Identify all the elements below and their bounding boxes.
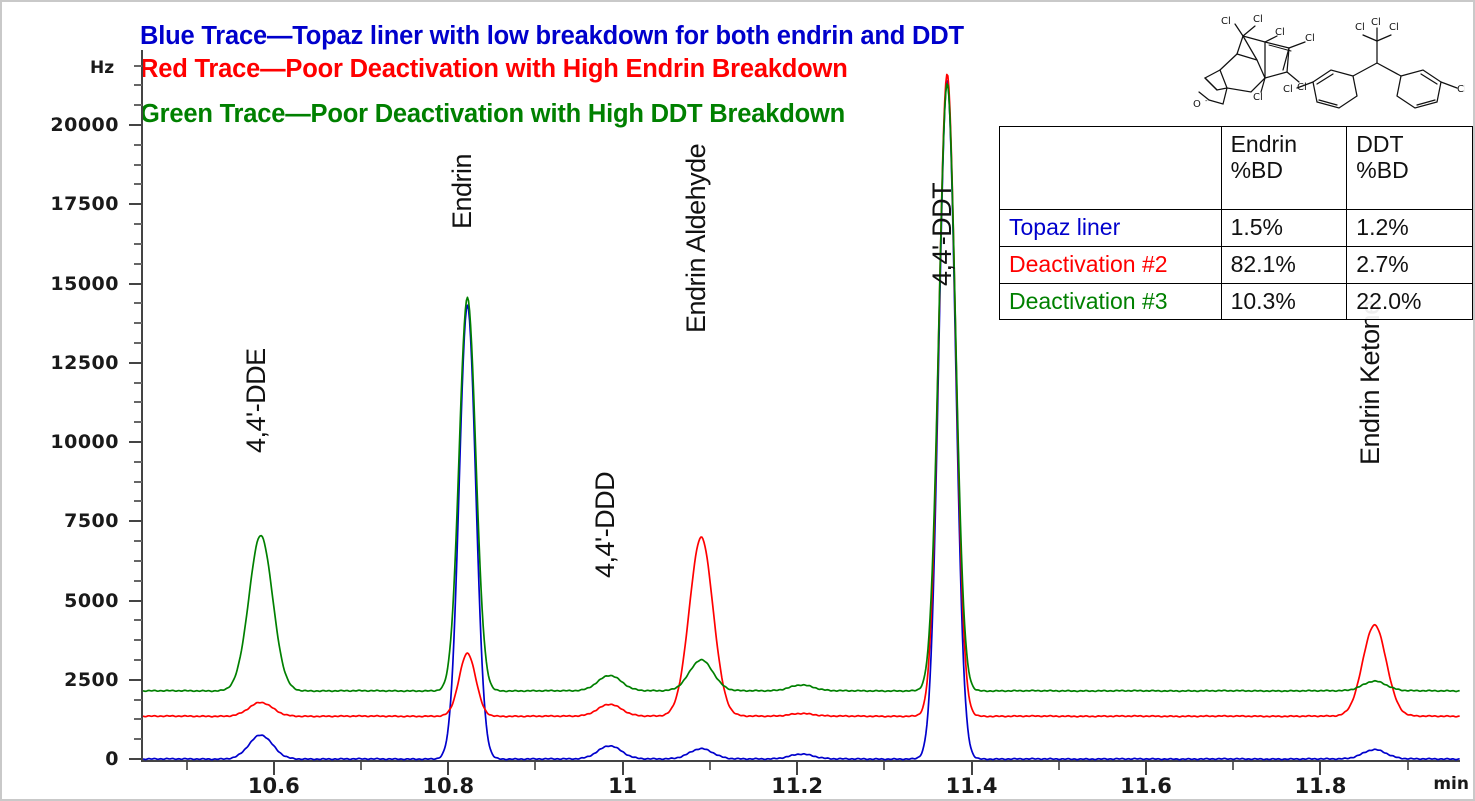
breakdown-results-table: Endrin%BDDDT%BDTopaz liner1.5%1.2%Deacti… bbox=[999, 126, 1473, 320]
svg-text:Cl: Cl bbox=[1371, 17, 1381, 28]
svg-text:Cl: Cl bbox=[1253, 92, 1263, 103]
table-cell-endrin-bd: 82.1% bbox=[1221, 246, 1347, 283]
svg-text:Cl: Cl bbox=[1355, 22, 1365, 33]
table-cell-ddt-bd: 1.2% bbox=[1347, 210, 1473, 247]
table-cell-endrin-bd: 1.5% bbox=[1221, 210, 1347, 247]
table-cell-ddt-bd: 2.7% bbox=[1347, 246, 1473, 283]
peak-label: 4,4'-DDD bbox=[590, 472, 621, 578]
table-corner-cell bbox=[1000, 127, 1222, 210]
svg-text:Cl: Cl bbox=[1253, 14, 1263, 25]
peak-label: 4,4'-DDE bbox=[241, 348, 272, 453]
table-header-endrin: Endrin%BD bbox=[1221, 127, 1347, 210]
peak-label: Endrin bbox=[447, 154, 478, 229]
peak-label: Endrin Ketone bbox=[1355, 300, 1386, 465]
chemical-structures: ClCl ClCl ClCl O- ClClCl ClCl bbox=[1165, 8, 1465, 126]
table-header-row: Endrin%BDDDT%BD bbox=[1000, 127, 1473, 210]
svg-text:Cl: Cl bbox=[1305, 33, 1315, 44]
table-cell-ddt-bd: 22.0% bbox=[1347, 283, 1473, 320]
peak-label: Endrin Aldehyde bbox=[681, 144, 712, 333]
table-cell-liner-name: Topaz liner bbox=[1000, 210, 1222, 247]
table-cell-liner-name: Deactivation #3 bbox=[1000, 283, 1222, 320]
table-row: Deactivation #310.3%22.0% bbox=[1000, 283, 1473, 320]
svg-text:O: O bbox=[1193, 99, 1201, 110]
table-cell-liner-name: Deactivation #2 bbox=[1000, 246, 1222, 283]
svg-text:Cl: Cl bbox=[1275, 27, 1285, 38]
chromatogram-figure: Blue Trace—Topaz liner with low breakdow… bbox=[0, 0, 1475, 801]
table-cell-endrin-bd: 10.3% bbox=[1221, 283, 1347, 320]
table-header-ddt: DDT%BD bbox=[1347, 127, 1473, 210]
table-row: Topaz liner1.5%1.2% bbox=[1000, 210, 1473, 247]
svg-text:Cl: Cl bbox=[1221, 16, 1231, 27]
svg-text:Cl: Cl bbox=[1389, 22, 1399, 33]
svg-text:Cl: Cl bbox=[1457, 84, 1465, 95]
peak-label: 4,4'-DDT bbox=[927, 183, 958, 286]
table-row: Deactivation #282.1%2.7% bbox=[1000, 246, 1473, 283]
svg-text:Cl: Cl bbox=[1283, 84, 1293, 95]
